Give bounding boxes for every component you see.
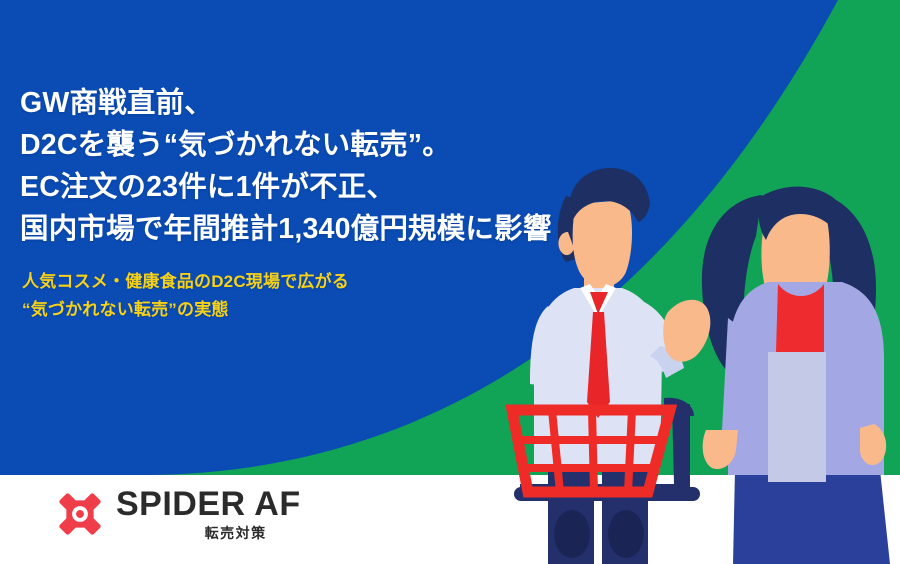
mark-ring-inner — [76, 510, 84, 518]
spider-af-mark-icon — [58, 492, 102, 536]
man-knee-left — [554, 510, 590, 558]
man-knee-right — [608, 510, 644, 558]
woman-skirt — [733, 470, 890, 564]
cart-grid-v3 — [628, 410, 632, 492]
logo-text: SPIDER AF 転売対策 — [116, 486, 301, 541]
logo-tagline: 転売対策 — [205, 526, 267, 541]
logo-wordmark: SPIDER AF — [116, 486, 301, 522]
headline: GW商戦直前、 D2Cを襲う“気づかれない転売”。 EC注文の23件に1件が不正… — [20, 82, 552, 250]
headline-line-1: GW商戦直前、 — [20, 82, 552, 124]
headline-line-2: D2Cを襲う“気づかれない転売”。 — [20, 124, 552, 166]
subheadline-line-2: “気づかれない転売”の実態 — [22, 296, 349, 324]
headline-line-4: 国内市場で年間推計1,340億円規模に影響 — [20, 208, 552, 250]
subheadline-line-1: 人気コスメ・健康食品のD2C現場で広がる — [22, 268, 349, 296]
logo-lockup[interactable]: SPIDER AF 転売対策 — [58, 486, 301, 541]
promo-banner: GW商戦直前、 D2Cを襲う“気づかれない転売”。 EC注文の23件に1件が不正… — [0, 0, 900, 564]
cart-grid-v2 — [592, 410, 594, 492]
headline-line-3: EC注文の23件に1件が不正、 — [20, 166, 552, 208]
subheadline: 人気コスメ・健康食品のD2C現場で広がる “気づかれない転売”の実態 — [22, 268, 349, 324]
woman-inner-panel — [768, 352, 826, 482]
